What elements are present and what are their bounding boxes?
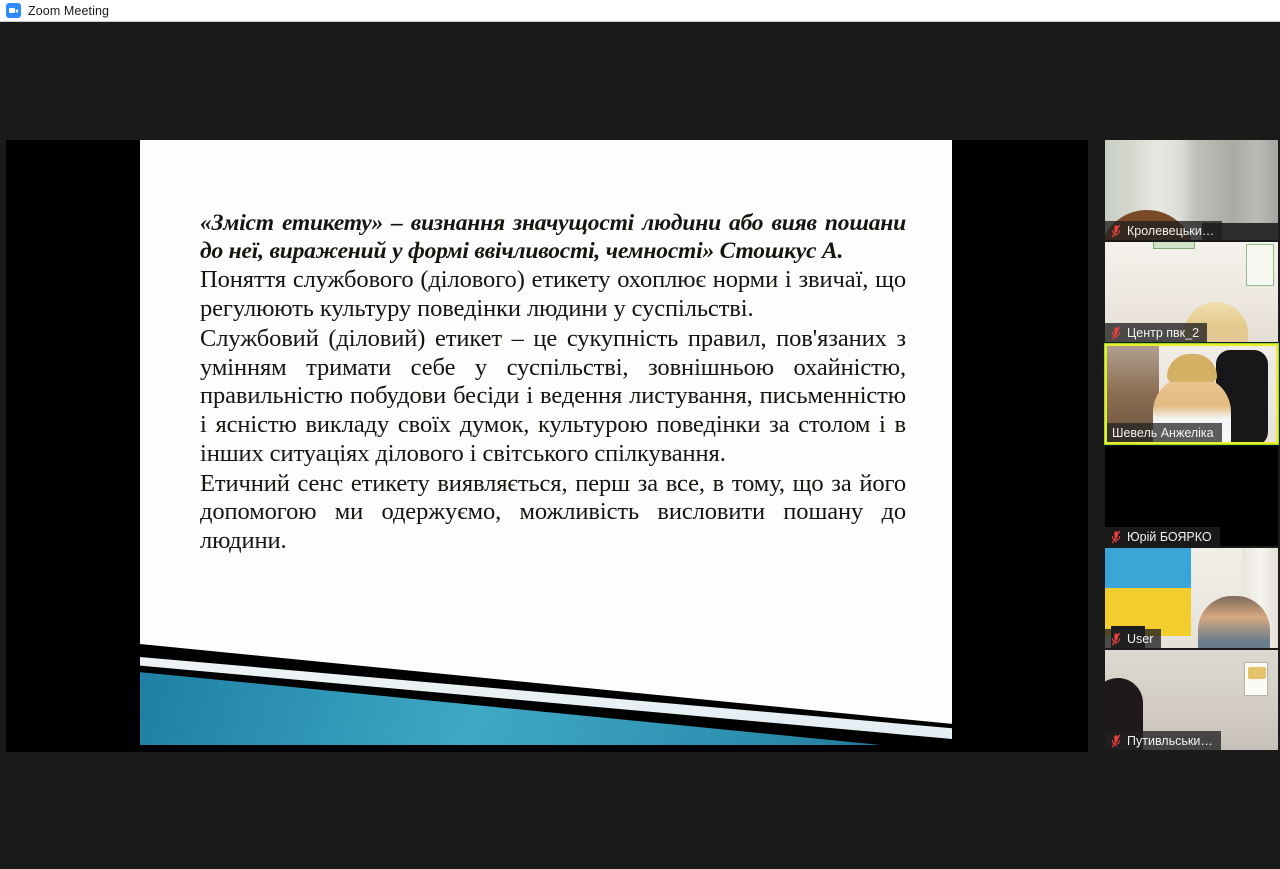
participant-name: Юрій БОЯРКО — [1127, 530, 1212, 544]
slide-paragraph-3: Етичний сенс етикету виявляється, перш з… — [200, 470, 906, 556]
window-title: Zoom Meeting — [28, 4, 109, 18]
participant-name-badge: Юрій БОЯРКО — [1105, 527, 1220, 546]
participant-name: Путивльськи… — [1127, 734, 1213, 748]
person-hair — [1167, 354, 1217, 382]
mic-muted-icon — [1110, 530, 1122, 544]
participant-thumbnail[interactable]: Юрій БОЯРКО — [1105, 446, 1278, 546]
participant-name-badge: Шевель Анжеліка — [1107, 423, 1222, 442]
mic-muted-icon — [1110, 326, 1122, 340]
wall-poster-icon — [1244, 662, 1268, 696]
mic-muted-icon — [1110, 632, 1122, 646]
slide-text-body: «Зміст етикету» – визнання значущості лю… — [200, 210, 906, 557]
ukraine-flag-blue — [1105, 548, 1191, 588]
slide-paragraph-quote: «Зміст етикету» – визнання значущості лю… — [200, 210, 906, 265]
presentation-slide: «Зміст етикету» – визнання значущості лю… — [140, 140, 952, 752]
participant-name-badge: Путивльськи… — [1105, 731, 1221, 750]
wall-poster-icon — [1153, 242, 1195, 249]
shared-screen-view[interactable]: «Зміст етикету» – визнання значущості лю… — [6, 140, 1088, 752]
participant-thumbnail[interactable]: Кролевецьки… — [1105, 140, 1278, 240]
participant-name-badge: Центр пвк_2 — [1105, 323, 1207, 342]
slide-decoration-base-bar — [140, 745, 952, 752]
participant-name-badge: Кролевецьки… — [1105, 221, 1222, 240]
participant-thumbnail[interactable]: User — [1105, 548, 1278, 648]
zoom-camera-icon — [6, 3, 21, 18]
mic-muted-icon — [1110, 224, 1122, 238]
wall-noticeboard-icon — [1246, 244, 1274, 286]
participant-name: Шевель Анжеліка — [1112, 426, 1214, 440]
participant-name-badge: User — [1105, 629, 1161, 648]
participant-thumbnail[interactable]: Центр пвк_2 — [1105, 242, 1278, 342]
participant-name: Центр пвк_2 — [1127, 326, 1199, 340]
participant-name: User — [1127, 632, 1153, 646]
meeting-main-area: «Зміст етикету» – визнання значущості лю… — [0, 22, 1280, 869]
slide-paragraph-2: Службовий (діловий) етикет – це сукупніс… — [200, 325, 906, 469]
participant-name: Кролевецьки… — [1127, 224, 1214, 238]
mic-muted-icon — [1110, 734, 1122, 748]
slide-paragraph-1: Поняття службового (ділового) етикету ох… — [200, 266, 906, 324]
participant-thumbnail-active-speaker[interactable]: Шевель Анжеліка — [1105, 344, 1278, 444]
window-title-bar[interactable]: Zoom Meeting — [0, 0, 1280, 22]
participant-filmstrip[interactable]: Кролевецьки… Центр пвк_2 — [1105, 140, 1278, 752]
participant-thumbnail[interactable]: Путивльськи… — [1105, 650, 1278, 750]
